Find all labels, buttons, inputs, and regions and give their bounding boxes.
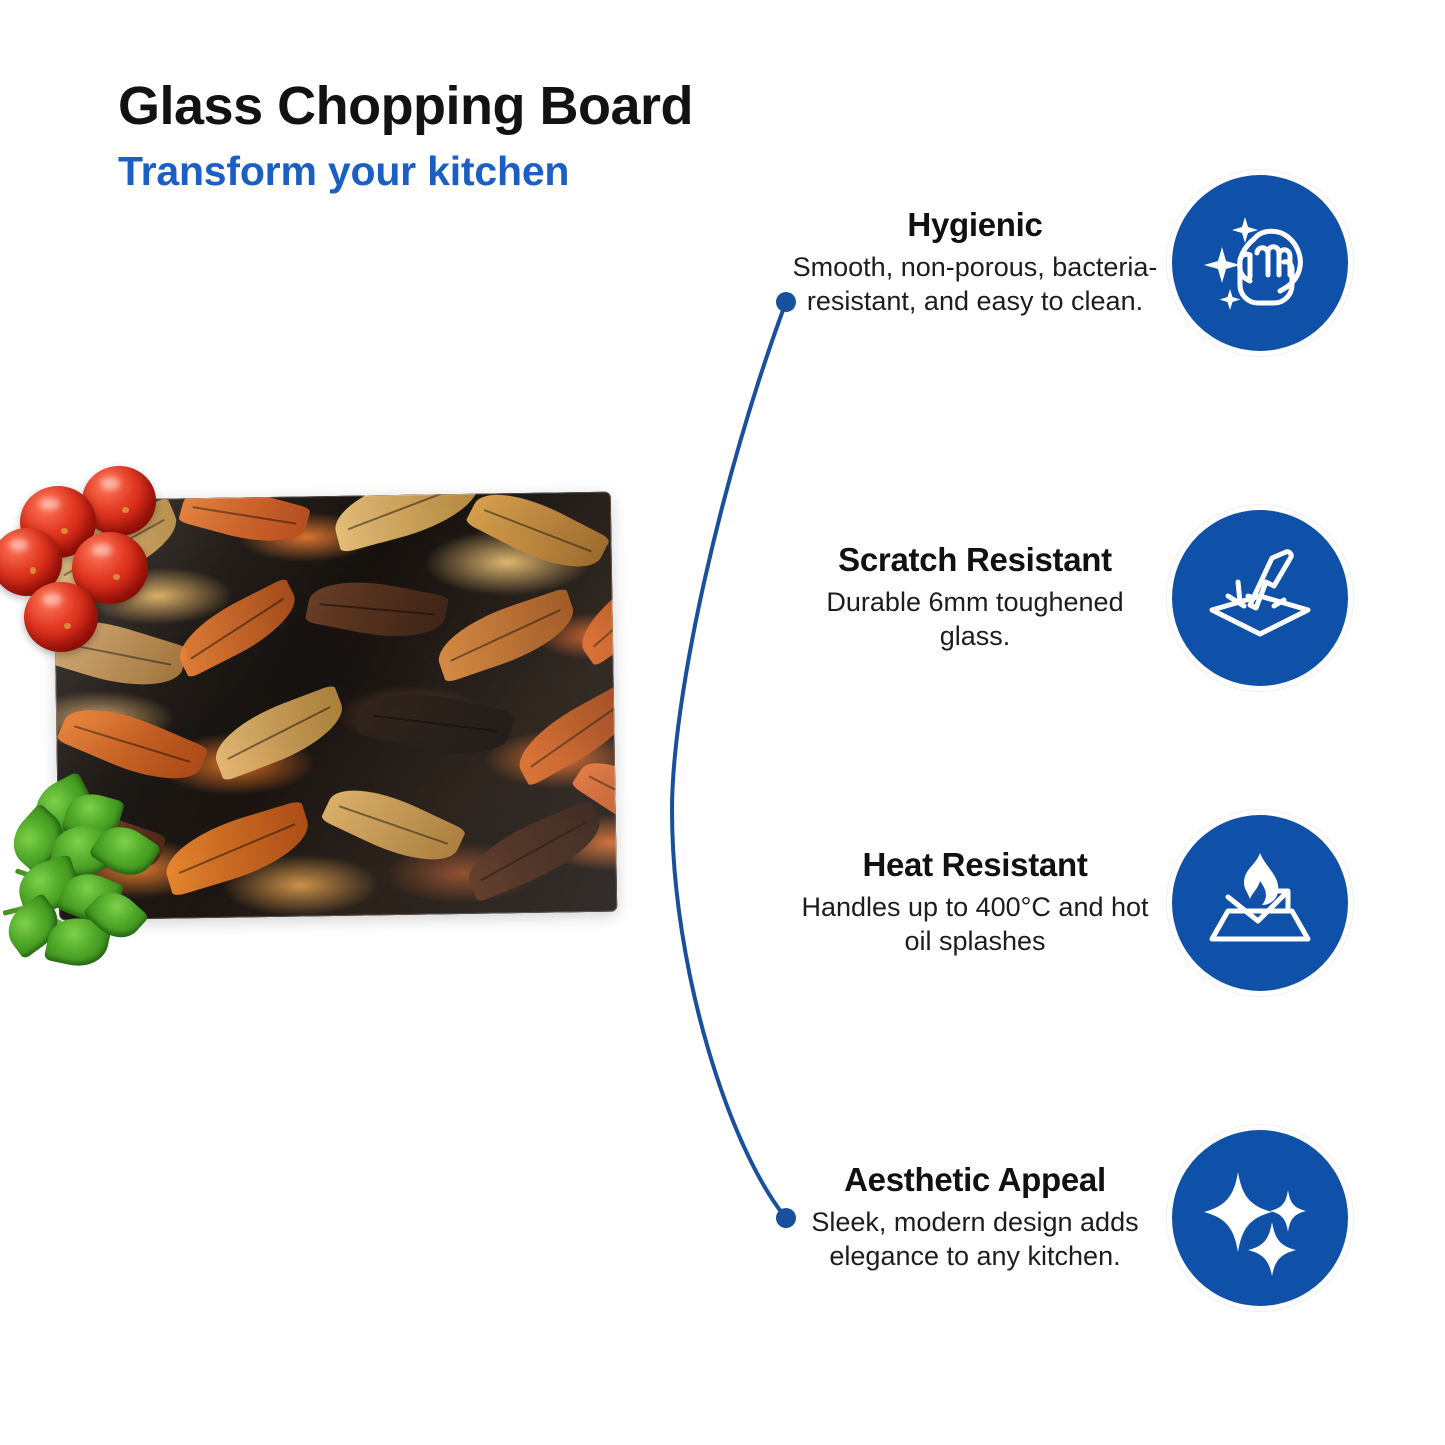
parsley-garnish	[0, 770, 170, 980]
connector-curve	[600, 270, 860, 1260]
feature-title: Heat Resistant	[790, 847, 1160, 884]
hand-wiping-sparkle-icon	[1172, 175, 1348, 351]
header: Glass Chopping Board Transform your kitc…	[118, 78, 878, 194]
page-title: Glass Chopping Board	[118, 78, 878, 135]
feature-text: Hygienic Smooth, non-porous, bacteria-re…	[790, 207, 1172, 319]
product-image	[0, 440, 660, 980]
feature-text: Heat Resistant Handles up to 400°C and h…	[790, 847, 1172, 959]
feature-aesthetic-appeal: Aesthetic Appeal Sleek, modern design ad…	[790, 1130, 1380, 1306]
feature-description: Smooth, non-porous, bacteria-resistant, …	[790, 250, 1160, 319]
flame-deflecting-surface-icon	[1172, 815, 1348, 991]
feature-title: Scratch Resistant	[790, 542, 1160, 579]
feature-text: Scratch Resistant Durable 6mm toughened …	[790, 542, 1172, 654]
feature-hygienic: Hygienic Smooth, non-porous, bacteria-re…	[790, 175, 1380, 351]
feature-heat-resistant: Heat Resistant Handles up to 400°C and h…	[790, 815, 1380, 991]
feature-scratch-resistant: Scratch Resistant Durable 6mm toughened …	[790, 510, 1380, 686]
feature-title: Aesthetic Appeal	[790, 1162, 1160, 1199]
feature-description: Durable 6mm toughened glass.	[790, 585, 1160, 654]
cherry-tomato	[24, 582, 98, 652]
knife-impact-surface-icon	[1172, 510, 1348, 686]
feature-text: Aesthetic Appeal Sleek, modern design ad…	[790, 1162, 1172, 1274]
feature-title: Hygienic	[790, 207, 1160, 244]
three-sparkles-icon	[1172, 1130, 1348, 1306]
infographic-canvas: Glass Chopping Board Transform your kitc…	[0, 0, 1445, 1445]
feature-description: Handles up to 400°C and hot oil splashes	[790, 890, 1160, 959]
page-subtitle: Transform your kitchen	[118, 149, 878, 194]
connector-path	[672, 302, 786, 1218]
feature-description: Sleek, modern design adds elegance to an…	[790, 1205, 1160, 1274]
